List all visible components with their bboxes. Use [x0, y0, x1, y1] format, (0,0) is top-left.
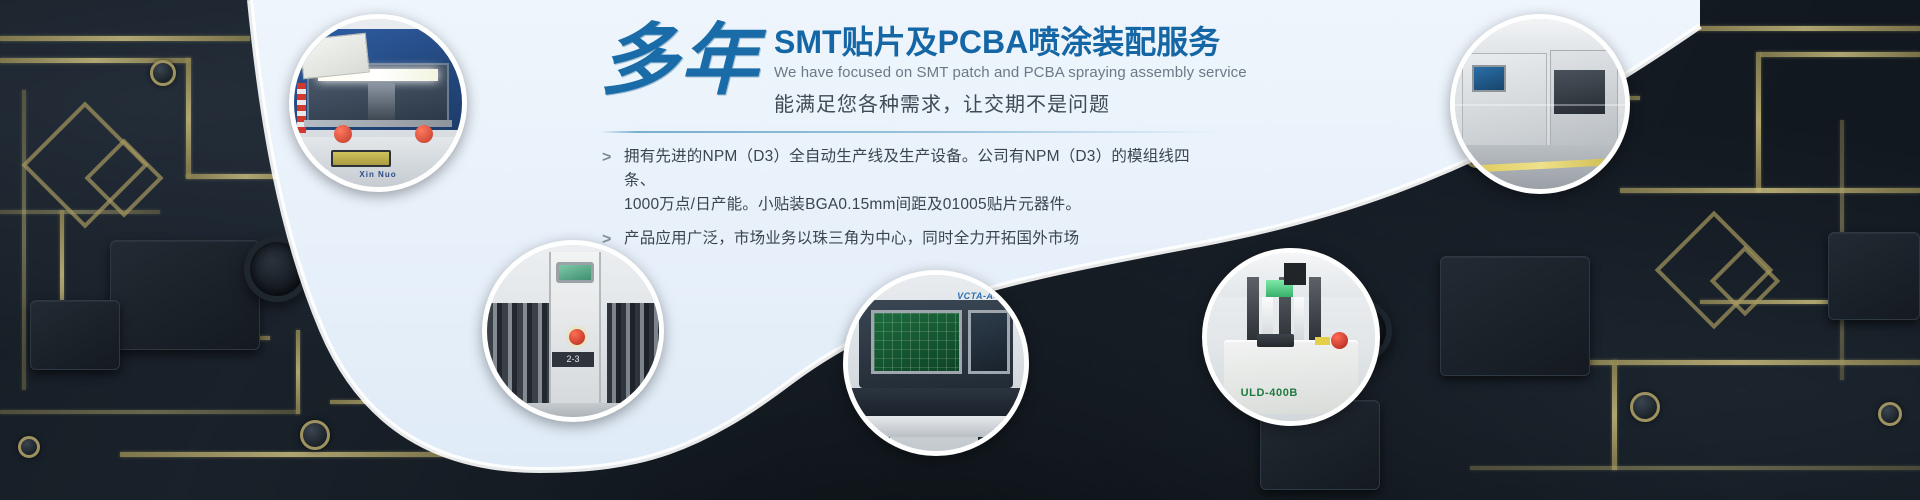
- title-row: 多年 SMT贴片及PCBA喷涂装配服务 We have focused on S…: [600, 14, 1220, 117]
- divider: [600, 131, 1220, 133]
- photo-smt-printer-machine: Xin Nuo: [289, 14, 467, 192]
- photo-caption-4: ULD-400B: [1241, 387, 1298, 399]
- photo-aoi-inspection-machine: VCTA-A410: [843, 270, 1029, 456]
- photo-caption-1: Xin Nuo: [294, 170, 462, 179]
- kicker-duonian: 多年: [600, 22, 760, 100]
- photo-chip-mounter-machine: 2-3: [482, 240, 664, 422]
- photo-loader-machine: ULD-400B: [1202, 248, 1380, 426]
- bullet-text: 产品应用广泛，市场业务以珠三角为中心，同时全力开拓国外市场: [624, 227, 1079, 253]
- bullet-line: 拥有先进的NPM（D3）全自动生产线及生产设备。公司有NPM（D3）的模组线四条…: [624, 145, 1220, 193]
- bullet-marker-icon: >: [602, 145, 624, 217]
- photo-production-line: [1450, 14, 1630, 194]
- list-item: > 产品应用广泛，市场业务以珠三角为中心，同时全力开拓国外市场: [602, 227, 1220, 253]
- bullet-line: 1000万点/日产能。小贴装BGA0.15mm间距及01005贴片元器件。: [624, 193, 1220, 217]
- list-item: > 拥有先进的NPM（D3）全自动生产线及生产设备。公司有NPM（D3）的模组线…: [602, 145, 1220, 217]
- promo-banner: Xin Nuo 2-3 VCTA-A410: [0, 0, 1920, 500]
- page-title: SMT贴片及PCBA喷涂装配服务: [774, 24, 1247, 61]
- photo-caption-2: 2-3: [552, 352, 593, 367]
- subtitle-english: We have focused on SMT patch and PCBA sp…: [774, 64, 1247, 81]
- banner-content: 多年 SMT贴片及PCBA喷涂装配服务 We have focused on S…: [600, 14, 1220, 263]
- bullet-line: 产品应用广泛，市场业务以珠三角为中心，同时全力开拓国外市场: [624, 227, 1079, 251]
- tagline: 能满足您各种需求，让交期不是问题: [774, 88, 1247, 117]
- bullet-list: > 拥有先进的NPM（D3）全自动生产线及生产设备。公司有NPM（D3）的模组线…: [602, 145, 1220, 253]
- headings: SMT贴片及PCBA喷涂装配服务 We have focused on SMT …: [774, 14, 1247, 117]
- bullet-text: 拥有先进的NPM（D3）全自动生产线及生产设备。公司有NPM（D3）的模组线四条…: [624, 145, 1220, 217]
- bullet-marker-icon: >: [602, 227, 624, 253]
- photo-caption-3: VCTA-A410: [957, 291, 1010, 301]
